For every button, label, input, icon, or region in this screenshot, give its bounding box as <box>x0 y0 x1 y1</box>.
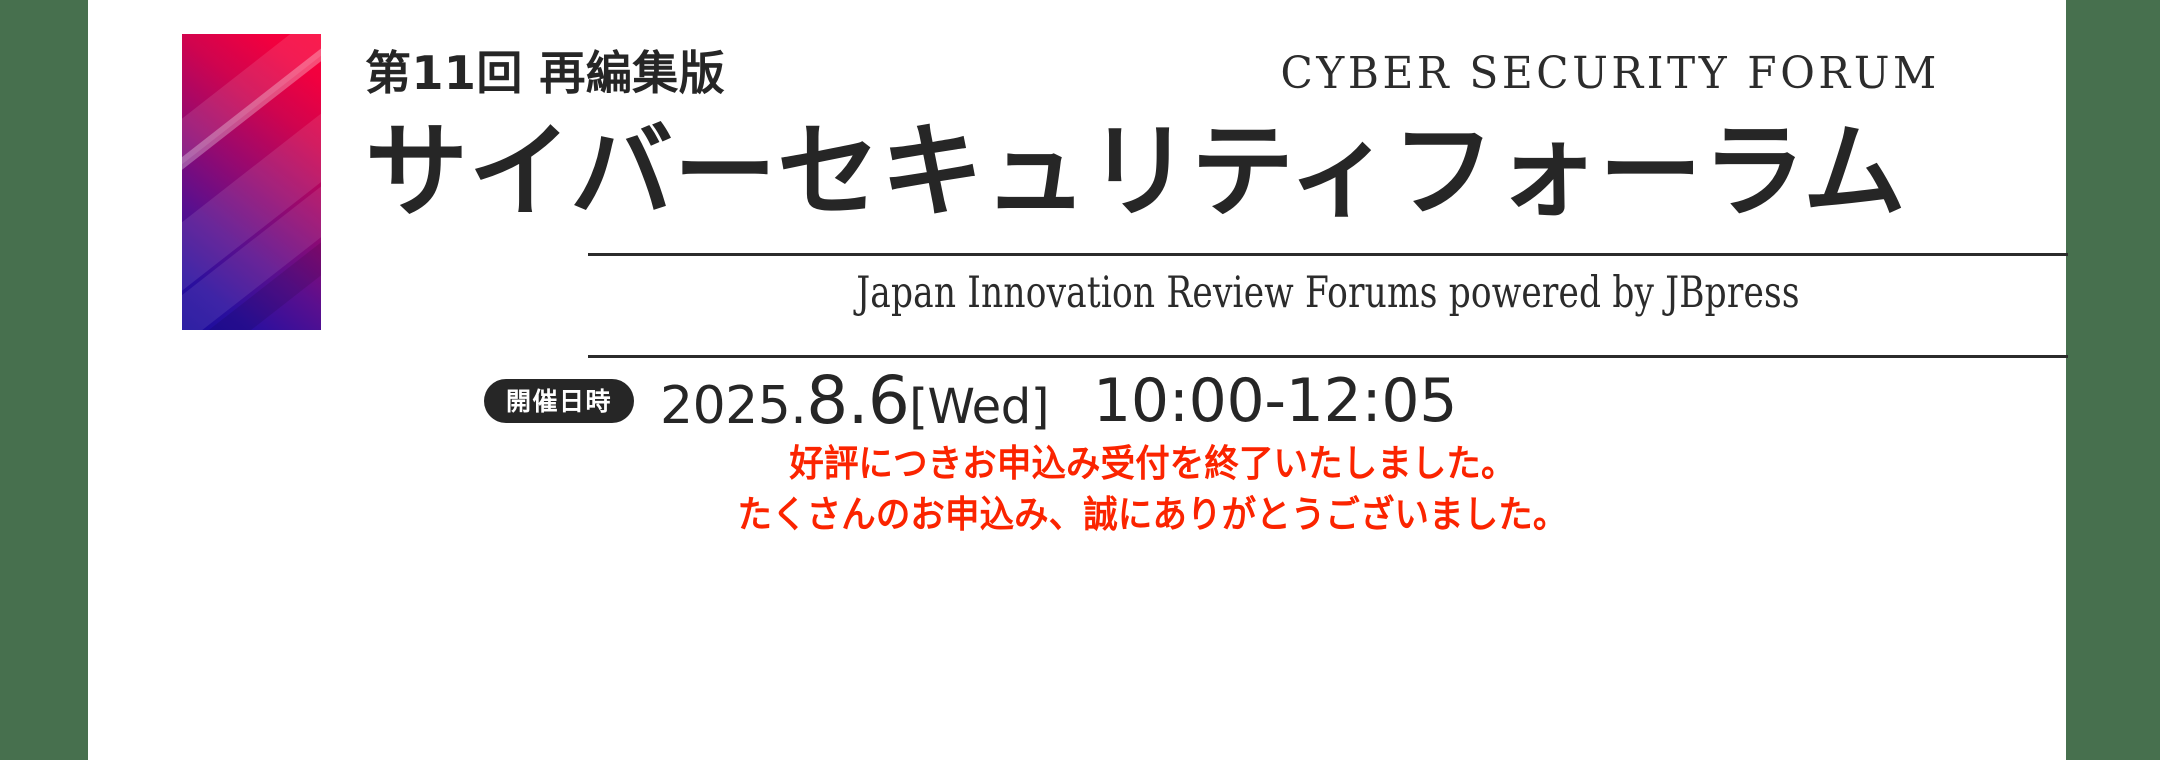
event-day-of-week: [Wed] <box>909 383 1049 431</box>
notice-line: 好評につきお申込み受付を終了いたしました。 <box>420 438 1885 489</box>
notice-line: たくさんのお申込み、誠にありがとうございました。 <box>420 489 1885 540</box>
forum-english-title: CYBER SECURITY FORUM <box>1281 52 1940 96</box>
divider-top <box>588 253 2068 256</box>
event-year: 2025. <box>660 380 806 432</box>
event-banner: 第11回 再編集版 CYBER SECURITY FORUM サイバーセキュリテ… <box>0 0 2160 760</box>
banner-stage: 第11回 再編集版 CYBER SECURITY FORUM サイバーセキュリテ… <box>88 0 2066 760</box>
event-time-range: 10:00-12:05 <box>1093 371 1457 431</box>
divider-bottom <box>588 355 2068 358</box>
event-month-day: 8.6 <box>806 368 909 434</box>
event-date: 2025. 8.6 [Wed] <box>660 368 1049 434</box>
left-green-band <box>0 0 88 760</box>
banner-text-column: 第11回 再編集版 CYBER SECURITY FORUM サイバーセキュリテ… <box>365 0 1940 760</box>
schedule-row: 開催日時 2025. 8.6 [Wed] 10:00-12:05 <box>484 368 1457 434</box>
page-title: サイバーセキュリティフォーラム <box>365 118 1940 227</box>
edition-label: 第11回 再編集版 <box>365 50 725 96</box>
status-badge: 開催日時 <box>484 379 634 423</box>
cyber-security-forum-logo-mark <box>182 34 321 330</box>
eyebrow-row: 第11回 再編集版 CYBER SECURITY FORUM <box>365 30 1940 96</box>
right-green-band <box>2066 0 2160 760</box>
sub-brand-line: Japan Innovation Review Forums powered b… <box>736 272 1920 315</box>
registration-closed-notice: 好評につきお申込み受付を終了いたしました。 たくさんのお申込み、誠にありがとうご… <box>365 438 1940 540</box>
